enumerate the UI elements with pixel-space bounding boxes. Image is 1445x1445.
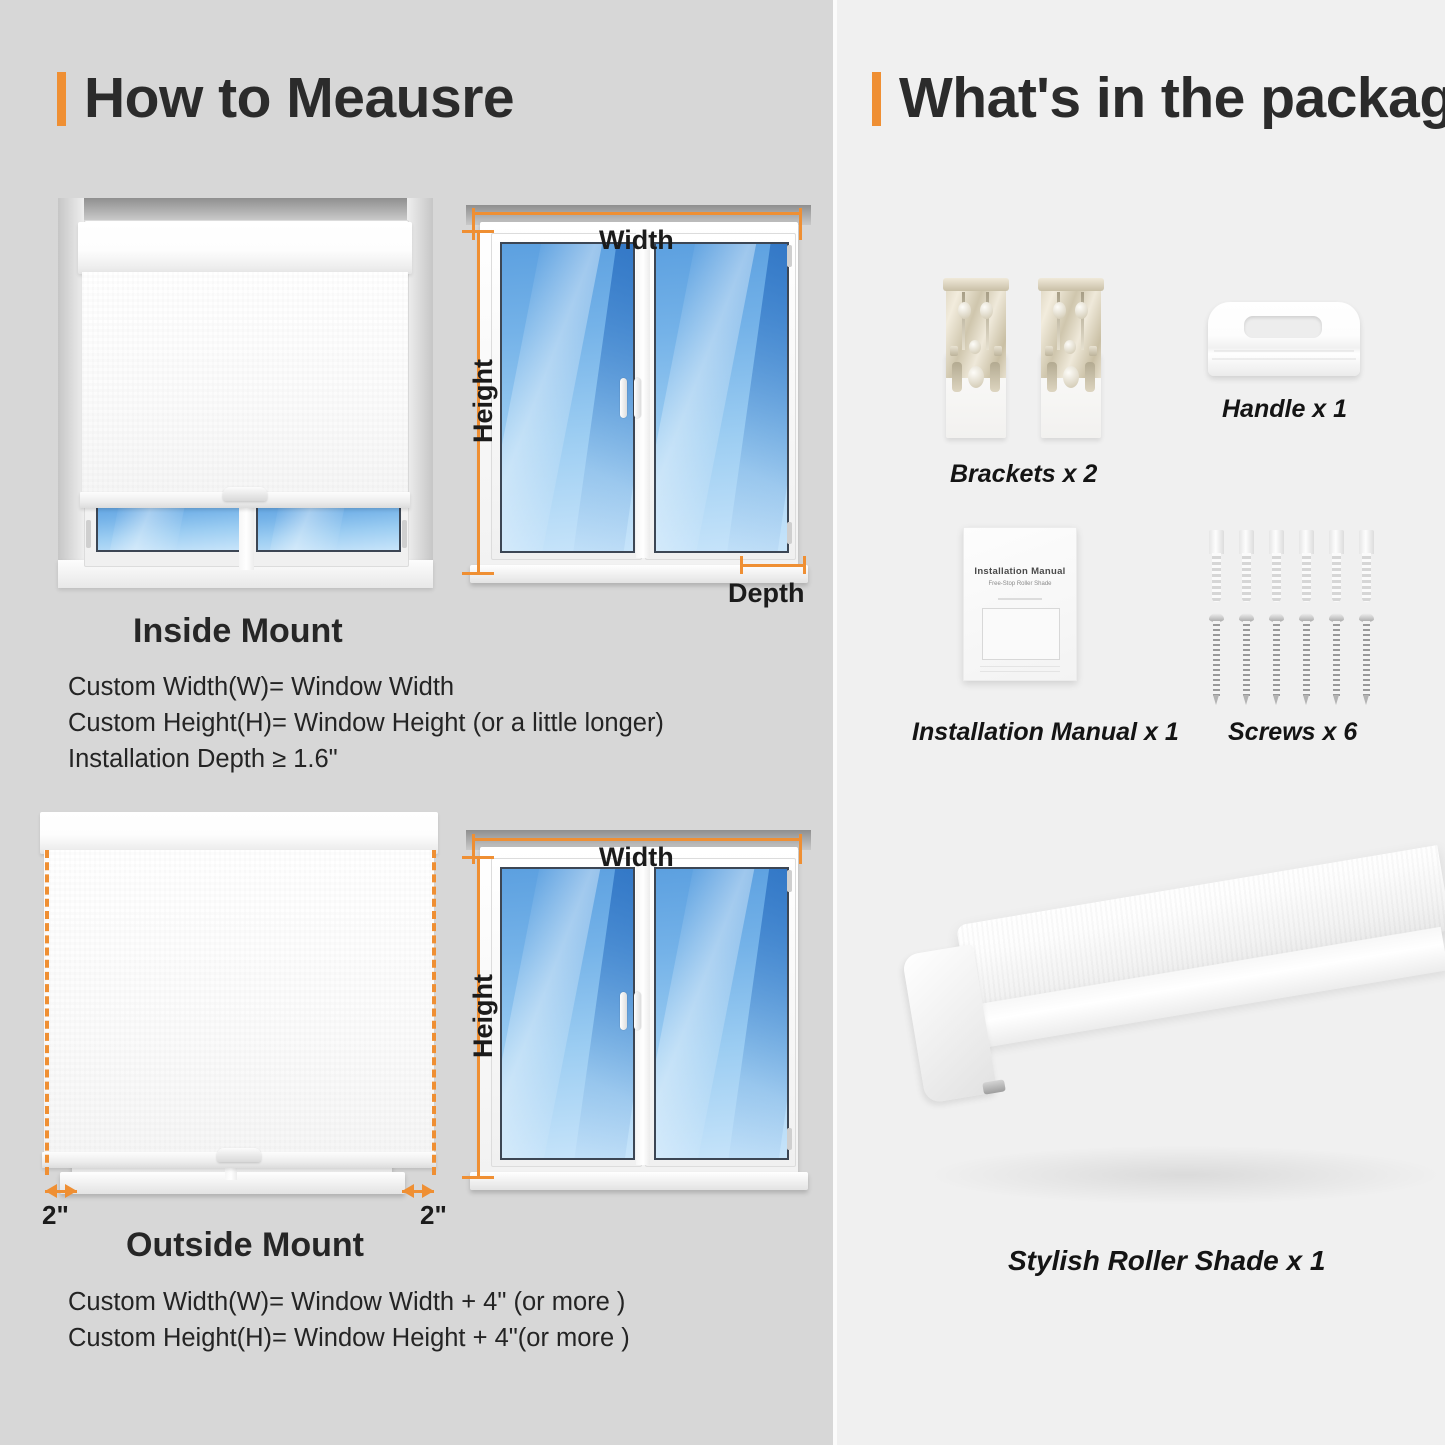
handle-label: Handle x 1 [1222, 395, 1347, 424]
bracket-icon [1035, 278, 1107, 438]
roller-shade-icon [905, 895, 1445, 1225]
accent-bar-icon [57, 72, 66, 126]
accent-bar-icon [872, 72, 881, 126]
left-panel-title: How to Meausre [84, 70, 514, 127]
manual-icon: Installation Manual Free-Stop Roller Sha… [963, 527, 1077, 681]
outside-mount-line-2: Custom Height(H)= Window Height + 4"(or … [68, 1321, 630, 1357]
brackets-label: Brackets x 2 [950, 460, 1097, 489]
screws-label: Screws x 6 [1228, 718, 1357, 747]
handle-icon [1208, 302, 1360, 376]
overhang-right-label: 2" [420, 1200, 447, 1231]
installation-manual-label: Installation Manual x 1 [912, 718, 1179, 747]
shade-pull-handle [217, 1148, 261, 1162]
glass-pane-left [500, 867, 635, 1160]
height-label: Height [468, 359, 499, 443]
outside-mount-title: Outside Mount [126, 1226, 364, 1265]
overhang-guide-right [432, 850, 436, 1175]
inside-mount-line-1: Custom Width(W)= Window Width [68, 670, 454, 706]
depth-label: Depth [728, 578, 805, 609]
glass-pane-right [654, 242, 789, 553]
shade-valance [78, 222, 412, 274]
overhang-guide-left [45, 850, 49, 1175]
outside-mount-line-1: Custom Width(W)= Window Width + 4" (or m… [68, 1285, 625, 1321]
roller-shade-label: Stylish Roller Shade x 1 [1008, 1245, 1325, 1277]
shade-fabric [82, 272, 408, 494]
bracket-icon [940, 278, 1012, 438]
shade-valance [40, 812, 438, 854]
package-heading: What's in the package [872, 70, 1445, 127]
how-to-measure-heading: How to Meausre [57, 70, 514, 127]
right-panel-title: What's in the package [899, 70, 1445, 127]
shade-fabric [44, 850, 434, 1155]
shade-pull-handle [223, 487, 267, 501]
infographic-page: How to Meausre What's in the package [0, 0, 1445, 1445]
width-label: Width [599, 842, 674, 873]
glass-pane-right [654, 867, 789, 1160]
overhang-left-label: 2" [42, 1200, 69, 1231]
width-label: Width [599, 225, 674, 256]
glass-pane-left [500, 242, 635, 553]
manual-cover-title: Installation Manual [964, 566, 1076, 577]
inside-mount-line-2: Custom Height(H)= Window Height (or a li… [68, 706, 664, 742]
height-label: Height [468, 974, 499, 1058]
inside-mount-line-3: Installation Depth ≥ 1.6" [68, 742, 338, 778]
manual-cover-subtitle: Free-Stop Roller Shade [964, 581, 1076, 587]
inside-mount-title: Inside Mount [133, 612, 343, 651]
